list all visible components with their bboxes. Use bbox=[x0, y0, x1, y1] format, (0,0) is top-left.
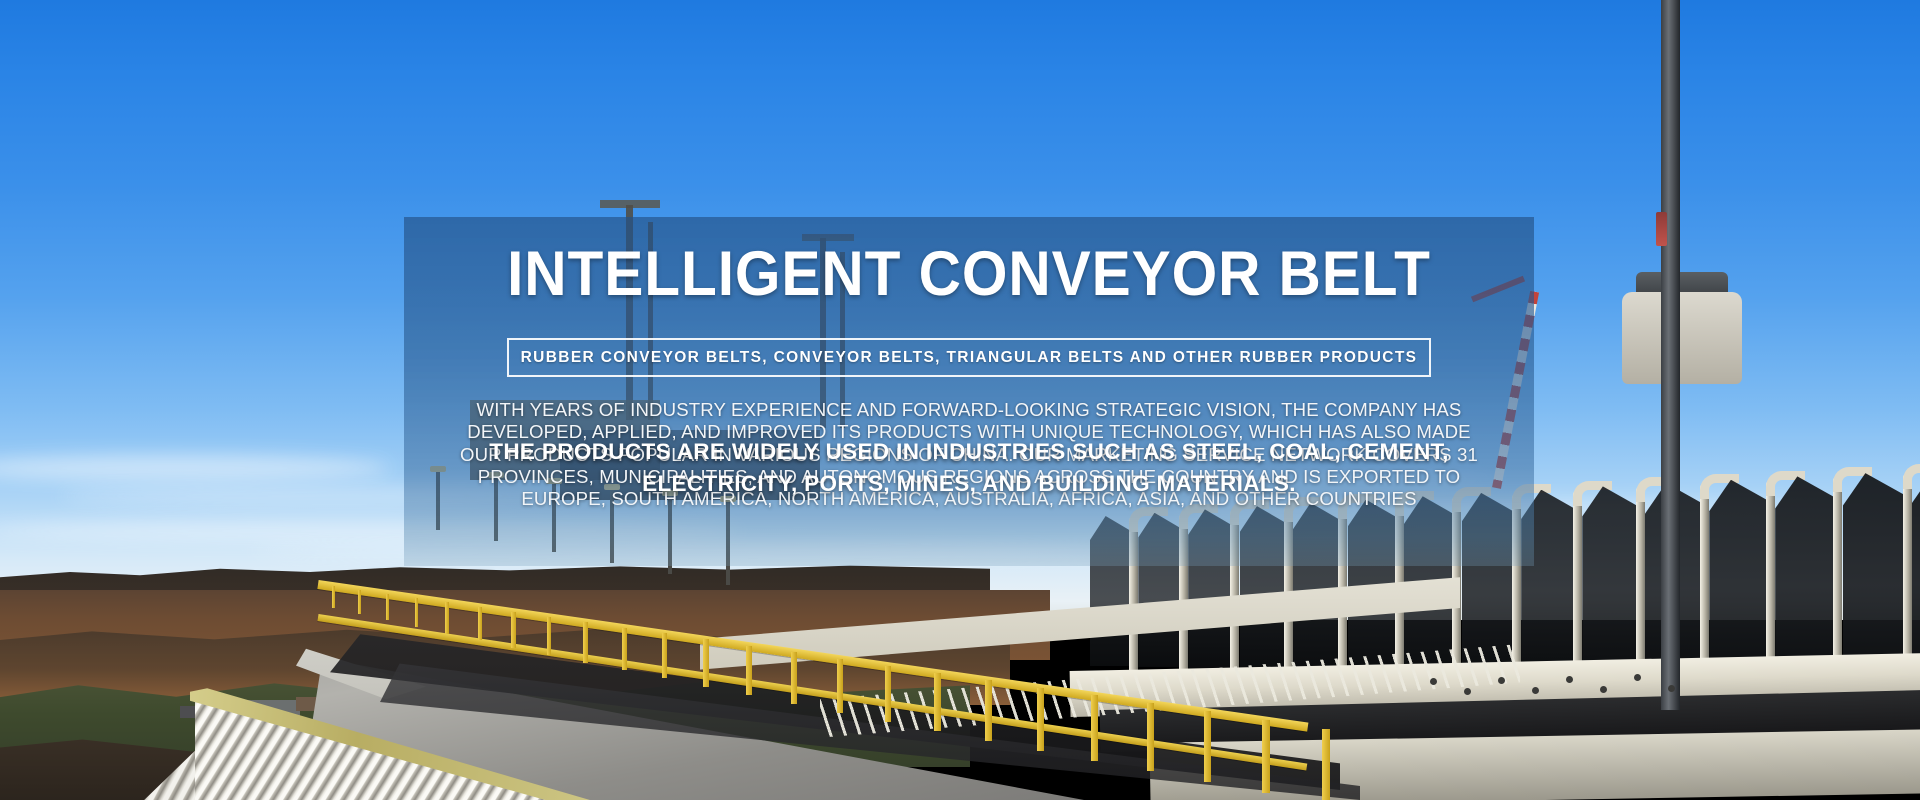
handrail-post bbox=[703, 639, 708, 686]
body-line: WITH YEARS OF INDUSTRY EXPERIENCE AND FO… bbox=[406, 399, 1532, 421]
handrail-post bbox=[885, 666, 891, 723]
handrail-post bbox=[547, 617, 552, 655]
conveyor-hood-cover bbox=[1582, 486, 1642, 674]
handrail-post bbox=[1204, 711, 1212, 781]
handrail-post bbox=[622, 628, 627, 671]
handrail-post bbox=[746, 646, 752, 696]
subtitle-box: RUBBER CONVEYOR BELTS, CONVEYOR BELTS, T… bbox=[507, 338, 1431, 377]
handrail-post bbox=[1037, 688, 1044, 751]
handrail-post bbox=[662, 633, 667, 678]
tagline-text: THE PRODUCTS ARE WIDELY USED IN INDUSTRI… bbox=[404, 436, 1534, 500]
handrail-post bbox=[583, 622, 588, 662]
handrail-post bbox=[386, 594, 389, 621]
page-title: INTELLIGENT CONVEYOR BELT bbox=[444, 243, 1495, 306]
handrail-post bbox=[332, 586, 335, 608]
beam-bolt bbox=[1600, 686, 1607, 693]
handrail-post bbox=[837, 659, 843, 713]
steel-mast-pole bbox=[1661, 0, 1680, 710]
subtitle-text: RUBBER CONVEYOR BELTS, CONVEYOR BELTS, T… bbox=[521, 349, 1418, 367]
beam-bolt bbox=[1668, 685, 1675, 692]
hero-text-overlay: INTELLIGENT CONVEYOR BELT RUBBER CONVEYO… bbox=[404, 217, 1534, 566]
handrail-post bbox=[1147, 703, 1154, 771]
conveyor-hood-cover bbox=[1775, 476, 1840, 676]
handrail-post bbox=[511, 612, 515, 648]
hood-support-post bbox=[1573, 490, 1582, 686]
handrail-post bbox=[1091, 695, 1098, 761]
transfer-drum bbox=[1622, 292, 1742, 384]
hood-support-post bbox=[1636, 486, 1645, 686]
beam-bolt bbox=[1566, 676, 1573, 683]
beam-bolt bbox=[1498, 677, 1505, 684]
mast-light-icon bbox=[1656, 212, 1667, 246]
handrail-post bbox=[934, 673, 941, 732]
hero-banner: INTELLIGENT CONVEYOR BELT RUBBER CONVEYO… bbox=[0, 0, 1920, 800]
hood-post-hook bbox=[1903, 464, 1920, 489]
conveyor-hood-cover bbox=[1843, 473, 1910, 678]
handrail-post bbox=[985, 680, 992, 741]
conveyor-hood-cover bbox=[1709, 480, 1773, 676]
handrail-post bbox=[478, 607, 482, 641]
handrail-post bbox=[791, 652, 797, 704]
handrail-post bbox=[415, 598, 419, 627]
hood-support-post bbox=[1700, 483, 1709, 687]
handrail-post bbox=[1262, 720, 1270, 793]
handrail-post bbox=[1322, 729, 1330, 800]
handrail-post bbox=[445, 602, 449, 633]
conveyor-hood-cover bbox=[1912, 470, 1920, 679]
beam-bolt bbox=[1430, 678, 1437, 685]
handrail-post bbox=[358, 590, 361, 614]
